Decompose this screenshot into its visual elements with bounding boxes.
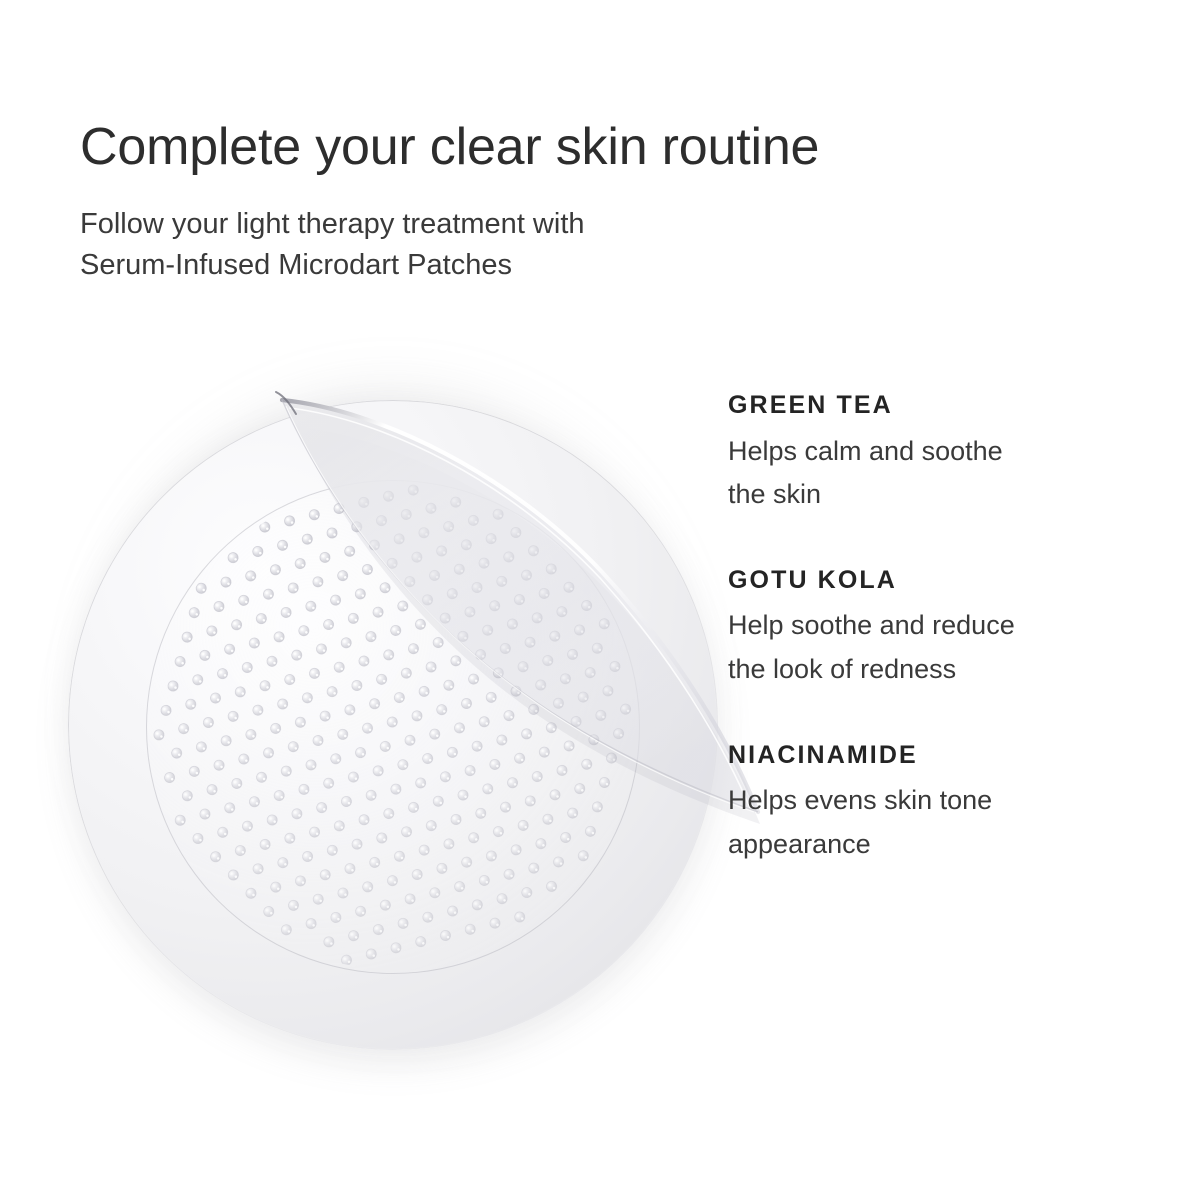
microdart-field: [150, 484, 636, 970]
page-title: Complete your clear skin routine: [80, 118, 1080, 176]
ingredient-list: GREEN TEA Helps calm and soothe the skin…: [728, 392, 1148, 867]
ingredient-item-niacinamide: NIACINAMIDE Helps evens skin tone appear…: [728, 742, 1148, 867]
ingredient-desc-line-2: the look of redness: [728, 654, 956, 684]
page-subtitle: Follow your light therapy treatment with…: [80, 176, 780, 286]
ingredient-item-gotu-kola: GOTU KOLA Help soothe and reduce the loo…: [728, 567, 1148, 692]
subtitle-line-1: Follow your light therapy treatment with: [80, 204, 780, 245]
ingredient-desc-line-2: appearance: [728, 829, 871, 859]
ingredient-name: GREEN TEA: [728, 392, 1148, 420]
ingredient-item-green-tea: GREEN TEA Helps calm and soothe the skin: [728, 392, 1148, 517]
product-image: [0, 330, 800, 1130]
product-feature-panel: Complete your clear skin routine Follow …: [0, 0, 1200, 1200]
ingredient-description: Help soothe and reduce the look of redne…: [728, 604, 1128, 691]
ingredient-desc-line-1: Helps calm and soothe: [728, 436, 1003, 466]
subtitle-line-2: Serum-Infused Microdart Patches: [80, 245, 780, 286]
ingredient-desc-line-2: the skin: [728, 479, 821, 509]
ingredient-desc-line-1: Helps evens skin tone: [728, 785, 992, 815]
ingredient-description: Helps calm and soothe the skin: [728, 430, 1128, 517]
header-block: Complete your clear skin routine Follow …: [80, 118, 1080, 287]
ingredient-desc-line-1: Help soothe and reduce: [728, 610, 1015, 640]
ingredient-description: Helps evens skin tone appearance: [728, 779, 1128, 866]
ingredient-name: NIACINAMIDE: [728, 742, 1148, 770]
ingredient-name: GOTU KOLA: [728, 567, 1148, 595]
